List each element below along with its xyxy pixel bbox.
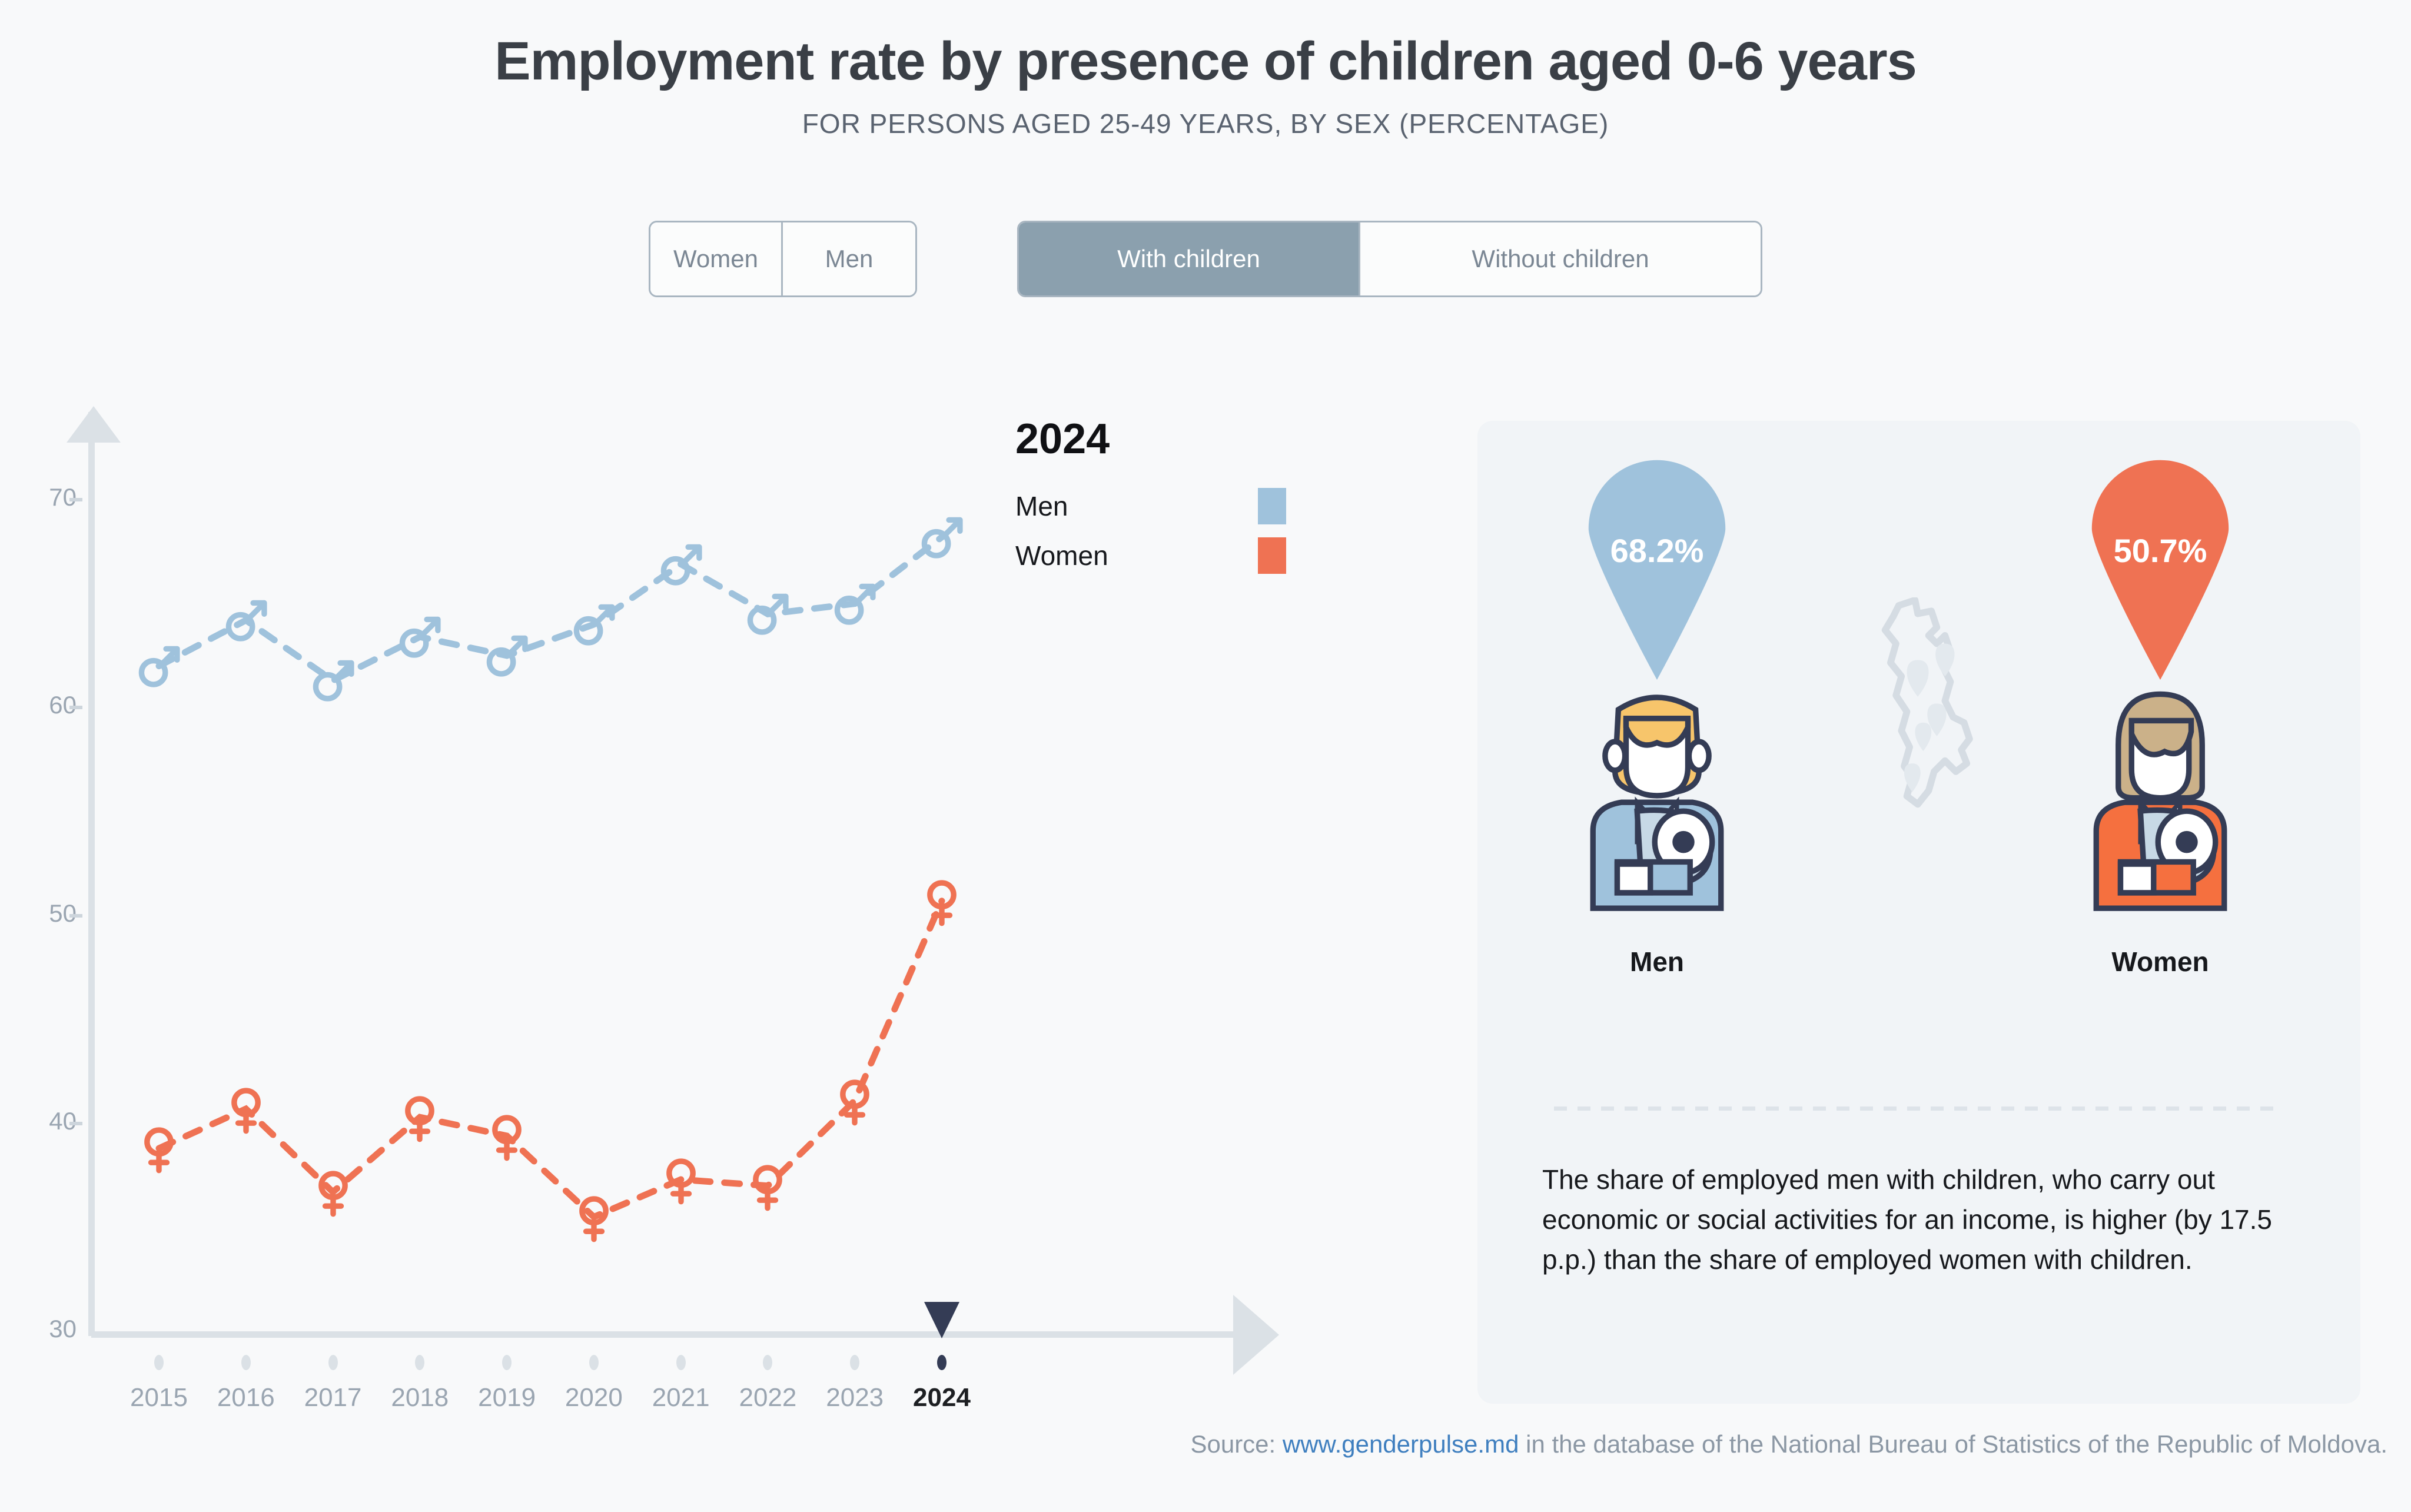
y-axis-tick-mark (69, 914, 82, 918)
y-axis-tick-label: 30 (12, 1315, 77, 1343)
x-axis-tick-label[interactable]: 2016 (217, 1383, 275, 1413)
value-label-men: 68.2% (1578, 531, 1736, 570)
toggle-women[interactable]: Women (650, 222, 783, 295)
data-point-women[interactable] (134, 1123, 184, 1174)
data-point-women[interactable] (916, 876, 967, 926)
data-point-women[interactable] (742, 1161, 793, 1211)
x-axis-tick-label[interactable]: 2021 (652, 1383, 710, 1413)
x-axis-tick-label[interactable]: 2019 (478, 1383, 536, 1413)
legend-label-men: Men (1015, 490, 1258, 522)
figure-label-men: Men (1527, 946, 1786, 978)
data-point-men[interactable] (656, 539, 706, 590)
legend-swatch-men (1258, 488, 1286, 524)
y-axis-tick-label: 50 (12, 899, 77, 928)
page-title: Employment rate by presence of children … (0, 31, 2411, 92)
source-prefix: Source: (1190, 1430, 1282, 1458)
x-axis-tick-dot[interactable] (937, 1355, 947, 1370)
panel-note: The share of employed men with children,… (1542, 1159, 2325, 1280)
source-suffix: in the database of the National Bureau o… (1519, 1430, 2387, 1458)
source-link[interactable]: www.genderpulse.md (1283, 1430, 1519, 1458)
x-axis-tick-dot[interactable] (589, 1355, 599, 1370)
toggle-with-children[interactable]: With children (1019, 222, 1360, 295)
y-axis-tick-mark (69, 1122, 82, 1125)
figure-comparison: 68.2% (1477, 456, 2360, 1104)
data-point-men[interactable] (742, 589, 793, 639)
value-pin-women: 50.7% (2081, 456, 2240, 680)
data-point-men[interactable] (829, 579, 880, 629)
x-axis-tick-label[interactable]: 2017 (304, 1383, 362, 1413)
toggle-men[interactable]: Men (783, 222, 915, 295)
toggle-without-children[interactable]: Without children (1360, 222, 1761, 295)
data-point-women[interactable] (829, 1075, 880, 1126)
x-axis-arrow-icon (1233, 1295, 1279, 1375)
legend-year-label: 2024 (1015, 415, 1286, 463)
figure-men: 68.2% (1527, 456, 1786, 978)
x-axis-tick-label[interactable]: 2015 (130, 1383, 188, 1413)
x-axis-tick-label[interactable]: 2022 (739, 1383, 796, 1413)
data-point-women[interactable] (481, 1111, 532, 1161)
y-axis-tick-label: 40 (12, 1107, 77, 1135)
data-point-women[interactable] (656, 1154, 706, 1205)
data-point-men[interactable] (916, 512, 967, 563)
sex-toggle-group[interactable]: Women Men (649, 221, 917, 297)
x-axis-tick-dot[interactable] (154, 1355, 164, 1370)
x-axis-tick-dot[interactable] (241, 1355, 251, 1370)
data-point-men[interactable] (134, 641, 184, 692)
data-point-women[interactable] (308, 1167, 358, 1217)
y-axis-line (88, 412, 95, 1336)
figure-women: 50.7% (2031, 456, 2290, 978)
y-axis-tick-label: 60 (12, 691, 77, 719)
y-axis-tick-mark (69, 706, 82, 709)
legend-item-men: Men (1015, 488, 1286, 524)
data-point-men[interactable] (308, 655, 358, 706)
panel-divider (1554, 1106, 2281, 1111)
source-footer: Source: www.genderpulse.md in the databa… (1190, 1430, 2387, 1458)
y-axis-tick-mark (69, 498, 82, 501)
moldova-map-icon (1842, 597, 2001, 815)
x-axis-tick-dot[interactable] (676, 1355, 686, 1370)
x-axis-tick-label[interactable]: 2020 (565, 1383, 623, 1413)
value-pin-men: 68.2% (1578, 456, 1736, 680)
figure-label-women: Women (2031, 946, 2290, 978)
selected-year-pointer-icon (924, 1302, 959, 1338)
x-axis-tick-label[interactable]: 2024 (913, 1383, 971, 1413)
children-toggle-group[interactable]: With children Without children (1017, 221, 1762, 297)
legend-label-women: Women (1015, 540, 1258, 571)
filter-toolbar: Women Men With children Without children (0, 221, 2411, 297)
data-point-women[interactable] (569, 1192, 619, 1242)
legend-item-women: Women (1015, 537, 1286, 574)
page-subtitle: FOR PERSONS AGED 25-49 YEARS, BY SEX (PE… (0, 108, 2411, 139)
value-label-women: 50.7% (2081, 531, 2240, 570)
x-axis-tick-label[interactable]: 2018 (391, 1383, 449, 1413)
y-axis-tick-label: 70 (12, 483, 77, 511)
avatar-men (1569, 686, 1745, 921)
data-point-men[interactable] (394, 612, 445, 662)
data-point-men[interactable] (221, 595, 271, 646)
page-header: Employment rate by presence of children … (0, 0, 2411, 139)
data-point-men[interactable] (481, 630, 532, 681)
chart-legend: 2024 Men Women (1015, 415, 1286, 587)
data-point-men[interactable] (569, 599, 619, 650)
x-axis-tick-dot[interactable] (328, 1355, 338, 1370)
x-axis-line (91, 1331, 1263, 1338)
x-axis-tick-dot[interactable] (502, 1355, 512, 1370)
x-axis-tick-label[interactable]: 2023 (826, 1383, 884, 1413)
avatar-women (2072, 686, 2249, 921)
summary-panel: 68.2% (1477, 421, 2360, 1404)
legend-swatch-women (1258, 537, 1286, 574)
data-point-women[interactable] (394, 1092, 445, 1142)
data-point-women[interactable] (221, 1084, 271, 1134)
